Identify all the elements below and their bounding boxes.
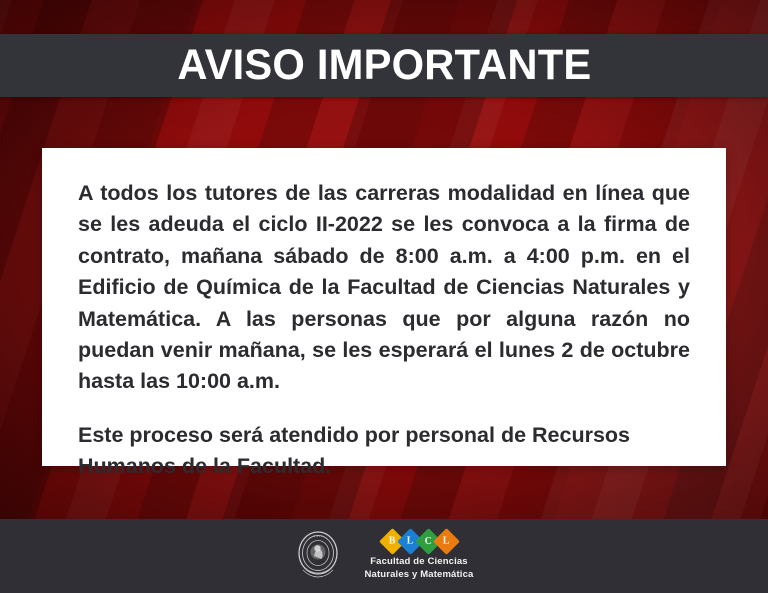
logo-diamond-4: L [433,529,460,556]
faculty-logo-line-2: Naturales y Matemática [365,569,474,582]
faculty-logo-text: Facultad de Ciencias Naturales y Matemát… [365,556,474,581]
title-bar: AVISO IMPORTANTE [0,34,768,97]
notice-card: A todos los tutores de las carreras moda… [42,148,726,466]
svg-text:U N I V: U N I V [313,534,324,538]
page-title: AVISO IMPORTANTE [177,44,591,87]
notice-paragraph-1: A todos los tutores de las carreras moda… [78,178,690,398]
announcement-poster: AVISO IMPORTANTE A todos los tutores de … [0,0,768,593]
logo-diamond-2-letter: L [407,537,414,547]
notice-paragraph-2: Este proceso será atendido por personal … [78,420,690,483]
notice-body: A todos los tutores de las carreras moda… [78,178,690,482]
logo-diamond-3-letter: C [424,537,431,547]
faculty-logo-diamonds: B L C L [384,531,455,553]
footer-bar: U N I V B L C L Facultad de Ciencias [0,519,768,593]
faculty-logo: B L C L Facultad de Ciencias Naturales y… [365,531,474,581]
ues-seal-icon: U N I V [295,529,341,583]
faculty-logo-line-1: Facultad de Ciencias [365,556,474,569]
logo-diamond-1-letter: B [389,537,396,547]
logo-diamond-4-letter: L [443,537,450,547]
